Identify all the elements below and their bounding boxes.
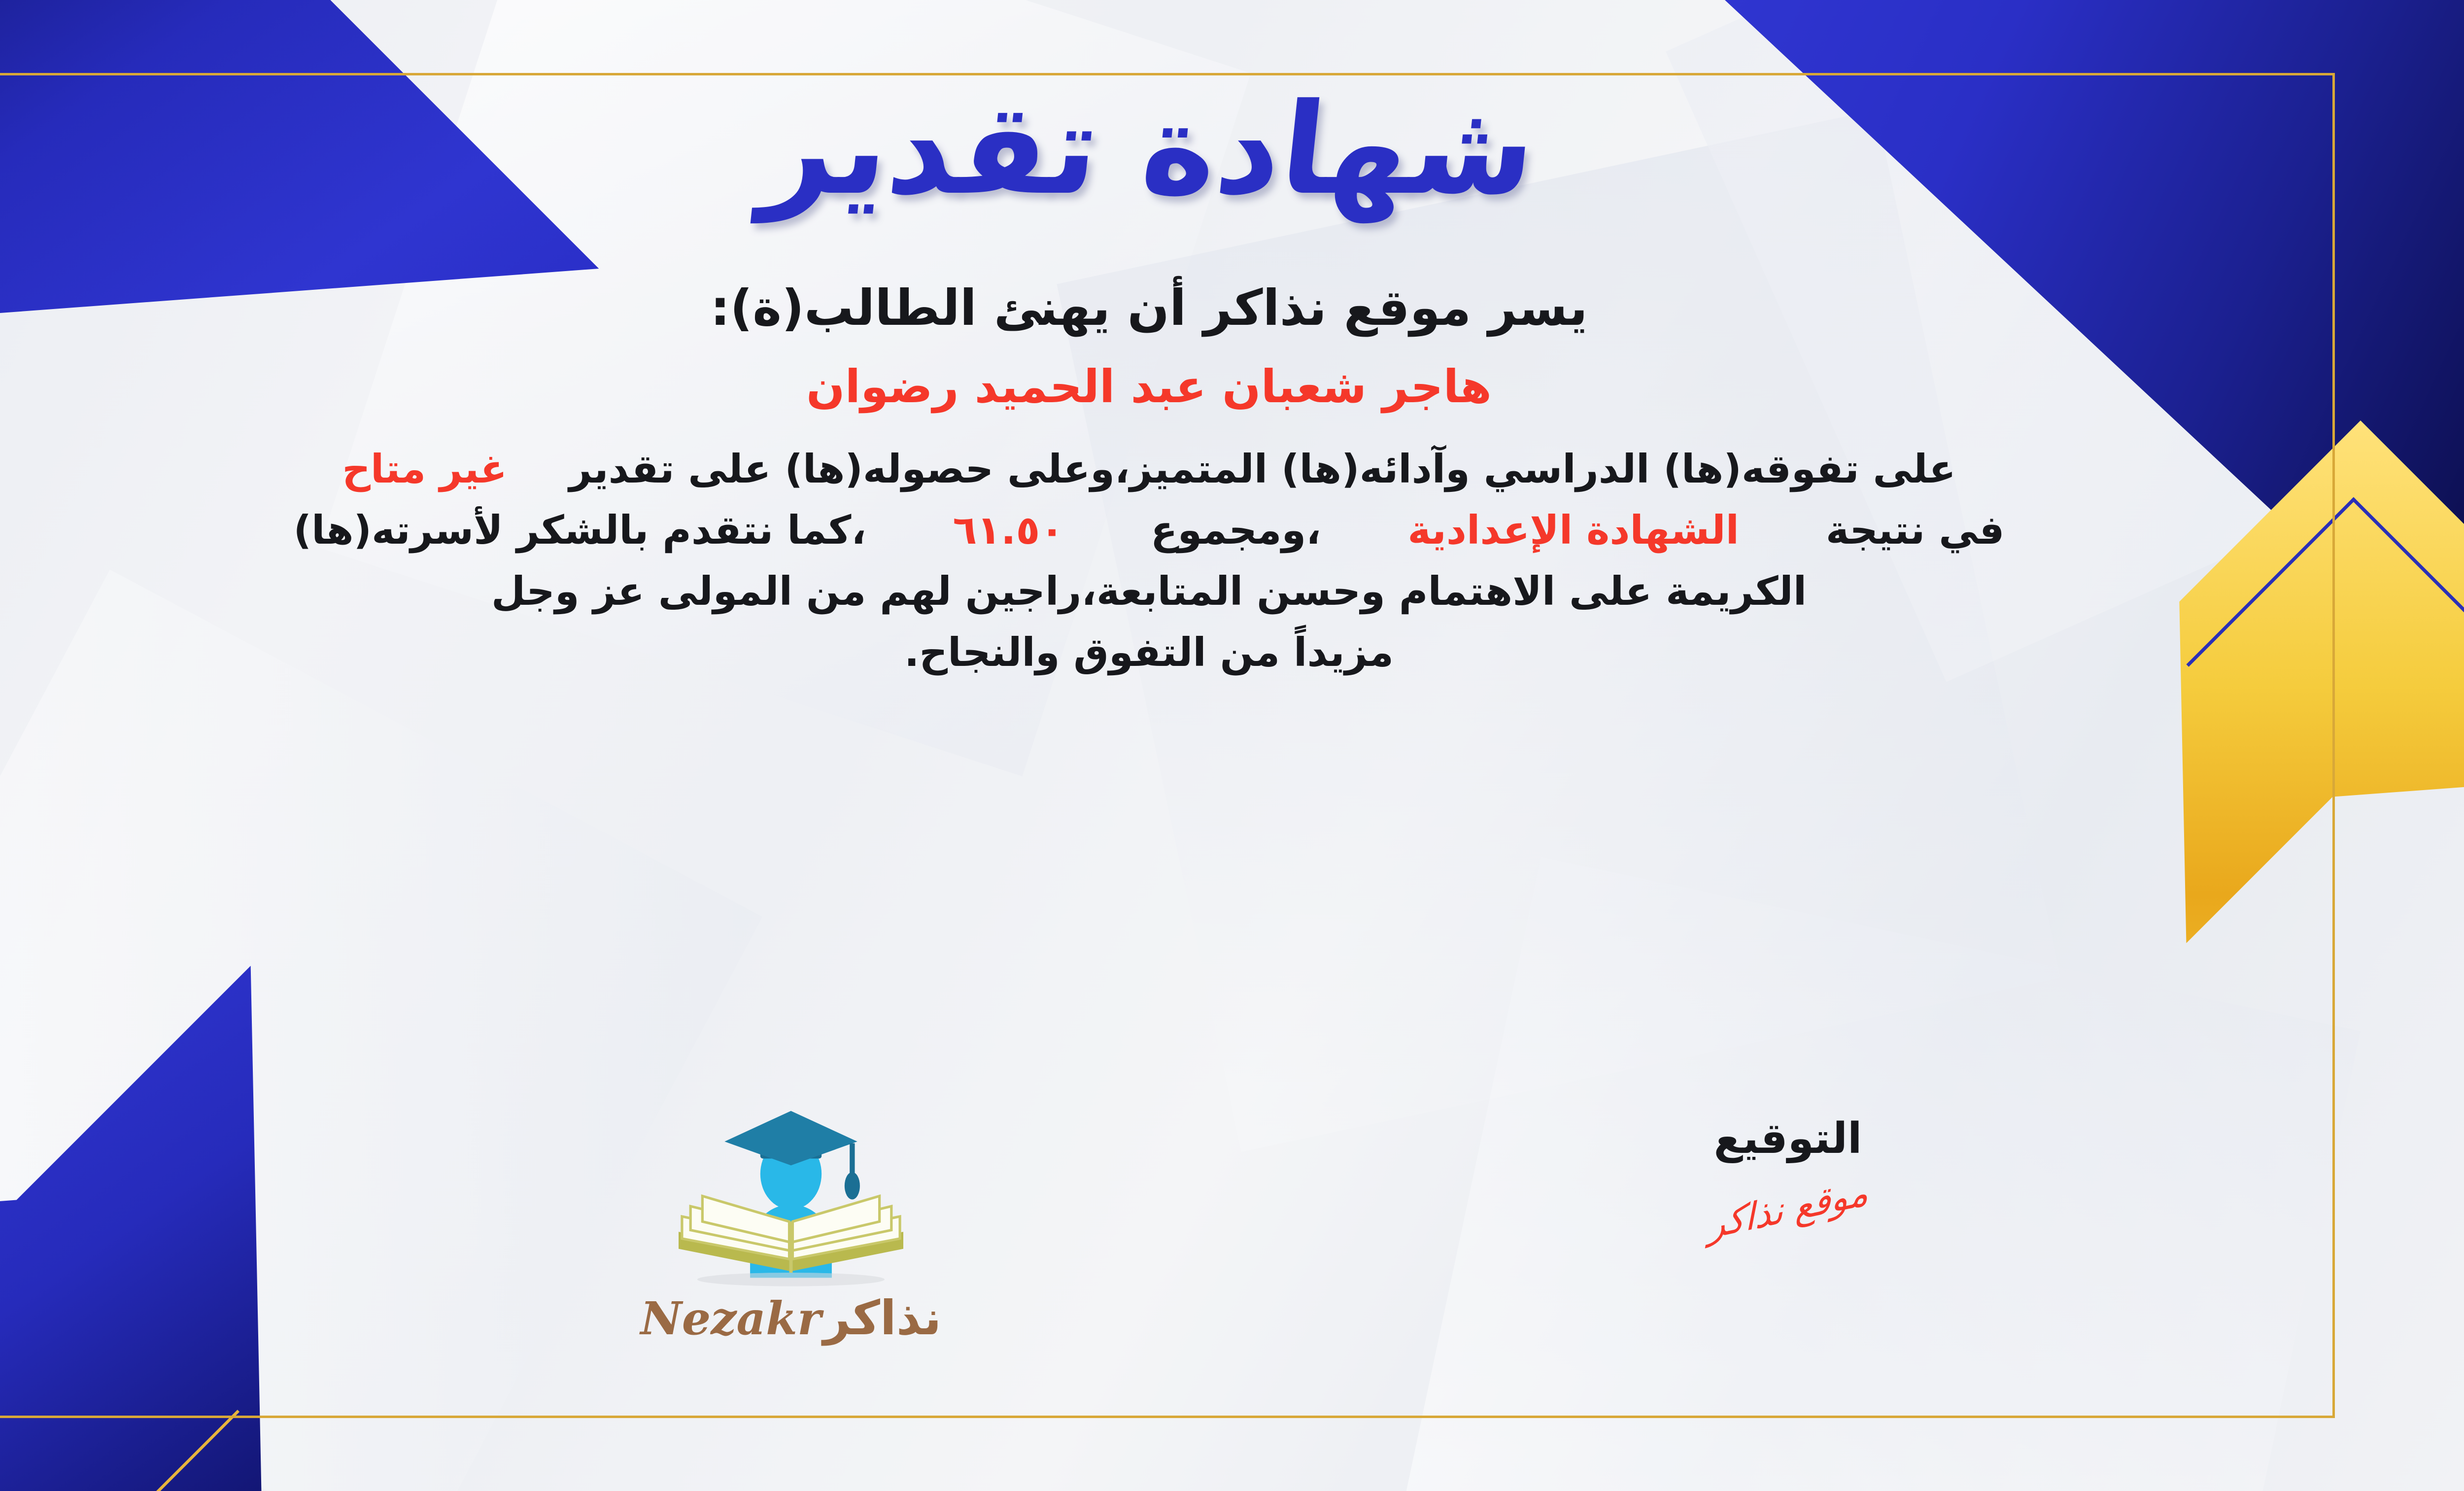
citation-line-4: مزيداً من التفوق والنجاح. [65,622,2233,683]
exam-name: الشهادة الإعدادية [1407,507,1739,553]
graduate-book-logo-icon [663,1104,919,1291]
grade-value: غير متاح [342,446,507,492]
exam-prefix: في نتيجة [1826,507,2005,553]
certificate-canvas: شهادة تقدير يسر موقع نذاكر أن يهنئ الطال… [0,0,2464,1491]
total-prefix: ،ومجموع [1151,507,1321,553]
citation-paragraph: على تفوقه(ها) الدراسي وآدائه(ها) المتميز… [65,439,2233,683]
intro-text: يسر موقع نذاكر أن يهنئ الطالب(ة): [710,279,1587,337]
signature-label: التوقيع [1714,1114,1862,1163]
total-score: ٦١.٥٠ [953,507,1064,553]
signature-mark: موقع نذاكر [1707,1171,1869,1248]
logo-latin-text: Nezakr [641,1296,821,1341]
citation-line-1-text: على تفوقه(ها) الدراسي وآدائه(ها) المتميز… [569,446,1956,492]
student-name: هاجر شعبان عبد الحميد رضوان [806,360,1492,413]
thanks-text: ،كما نتقدم بالشكر لأسرته(ها) [293,507,866,553]
citation-line-2: في نتيجة الشهادة الإعدادية ،ومجموع ٦١.٥٠… [65,500,2233,561]
certificate-footer: التوقيع موقع نذاكر [0,1104,2335,1380]
logo-wordmark: نذاكر Nezakr [641,1294,942,1342]
signature-area: التوقيع موقع نذاكر [1517,1104,2059,1230]
citation-line-1: على تفوقه(ها) الدراسي وآدائه(ها) المتميز… [65,439,2233,500]
brand-logo: نذاكر Nezakr [545,1104,1037,1342]
logo-arabic-text: نذاكر [823,1294,941,1342]
page-title: شهادة تقدير [756,84,1541,216]
citation-line-3: الكريمة على الاهتمام وحسن المتابعة،راجين… [65,561,2233,622]
